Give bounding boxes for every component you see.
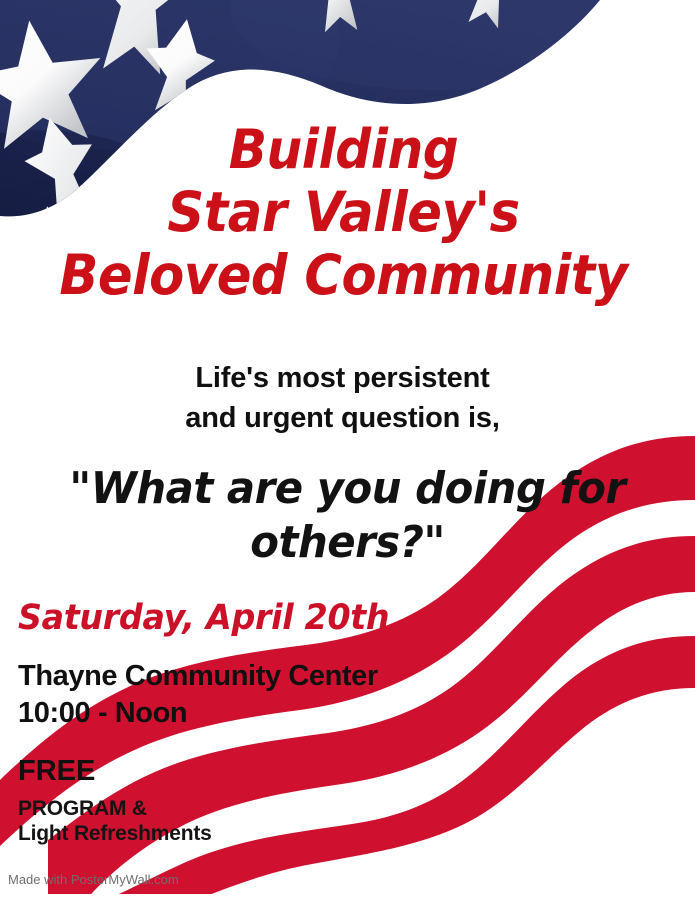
lead-line-2: and urgent question is, [0, 398, 685, 438]
postermywall-watermark: Made with PosterMyWall.com [8, 872, 179, 887]
event-time: 10:00 - Noon [18, 695, 458, 732]
quote-line-1: "What are you doing for [40, 462, 655, 516]
event-details: Saturday, April 20th Thayne Community Ce… [18, 596, 458, 846]
lead-line-1: Life's most persistent [0, 358, 685, 398]
event-venue: Thayne Community Center [18, 658, 458, 695]
event-price: FREE [18, 754, 458, 788]
event-offering-line-1: PROGRAM & [18, 796, 458, 821]
poster-content: Building Star Valley's Beloved Community… [0, 0, 695, 900]
event-date: Saturday, April 20th [18, 596, 436, 640]
event-offering-line-2: Light Refreshments [18, 821, 458, 846]
poster-canvas: Building Star Valley's Beloved Community… [0, 0, 695, 900]
lead-text: Life's most persistent and urgent questi… [0, 358, 685, 438]
title-line-1: Building [24, 118, 663, 181]
quote-line-2: others?" [40, 516, 655, 570]
featured-quote: "What are you doing for others?" [24, 462, 671, 570]
poster-title: Building Star Valley's Beloved Community [0, 118, 687, 307]
title-line-2: Star Valley's [24, 181, 663, 244]
title-line-3: Beloved Community [24, 244, 663, 307]
